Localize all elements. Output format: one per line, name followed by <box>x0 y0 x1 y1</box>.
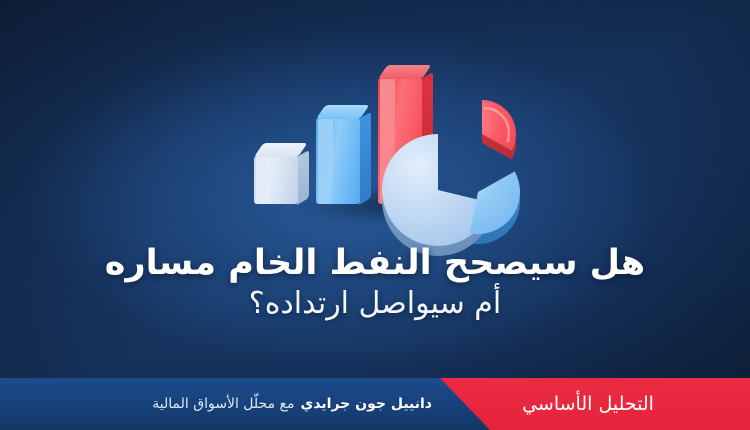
bar-face <box>254 156 298 204</box>
bar-medium-blue-icon <box>316 118 360 204</box>
analyst-credit: دانييل جون جرايدي مع محلّل الأسواق المال… <box>152 378 432 430</box>
footer-bar: التحليل الأساسي دانييل جون جرايدي مع محل… <box>0 378 750 430</box>
bar-side <box>297 150 309 205</box>
pie-chart-icon <box>374 94 514 234</box>
bar-side <box>359 112 371 205</box>
headline-line-2: أم سيواصل ارتداده؟ <box>0 286 750 322</box>
category-badge: التحليل الأساسي <box>440 378 750 430</box>
page-title: هل سيصحح النفط الخام مساره أم سيواصل ارت… <box>0 243 750 322</box>
chart-illustration <box>252 58 522 233</box>
bar-face <box>316 118 360 204</box>
headline-line-1: هل سيصحح النفط الخام مساره <box>0 243 750 284</box>
banner: هل سيصحح النفط الخام مساره أم سيواصل ارت… <box>0 0 750 430</box>
bar-small-pale-icon <box>254 156 298 204</box>
analyst-role: مع محلّل الأسواق المالية <box>152 396 294 412</box>
analyst-name: دانييل جون جرايدي <box>300 396 432 412</box>
